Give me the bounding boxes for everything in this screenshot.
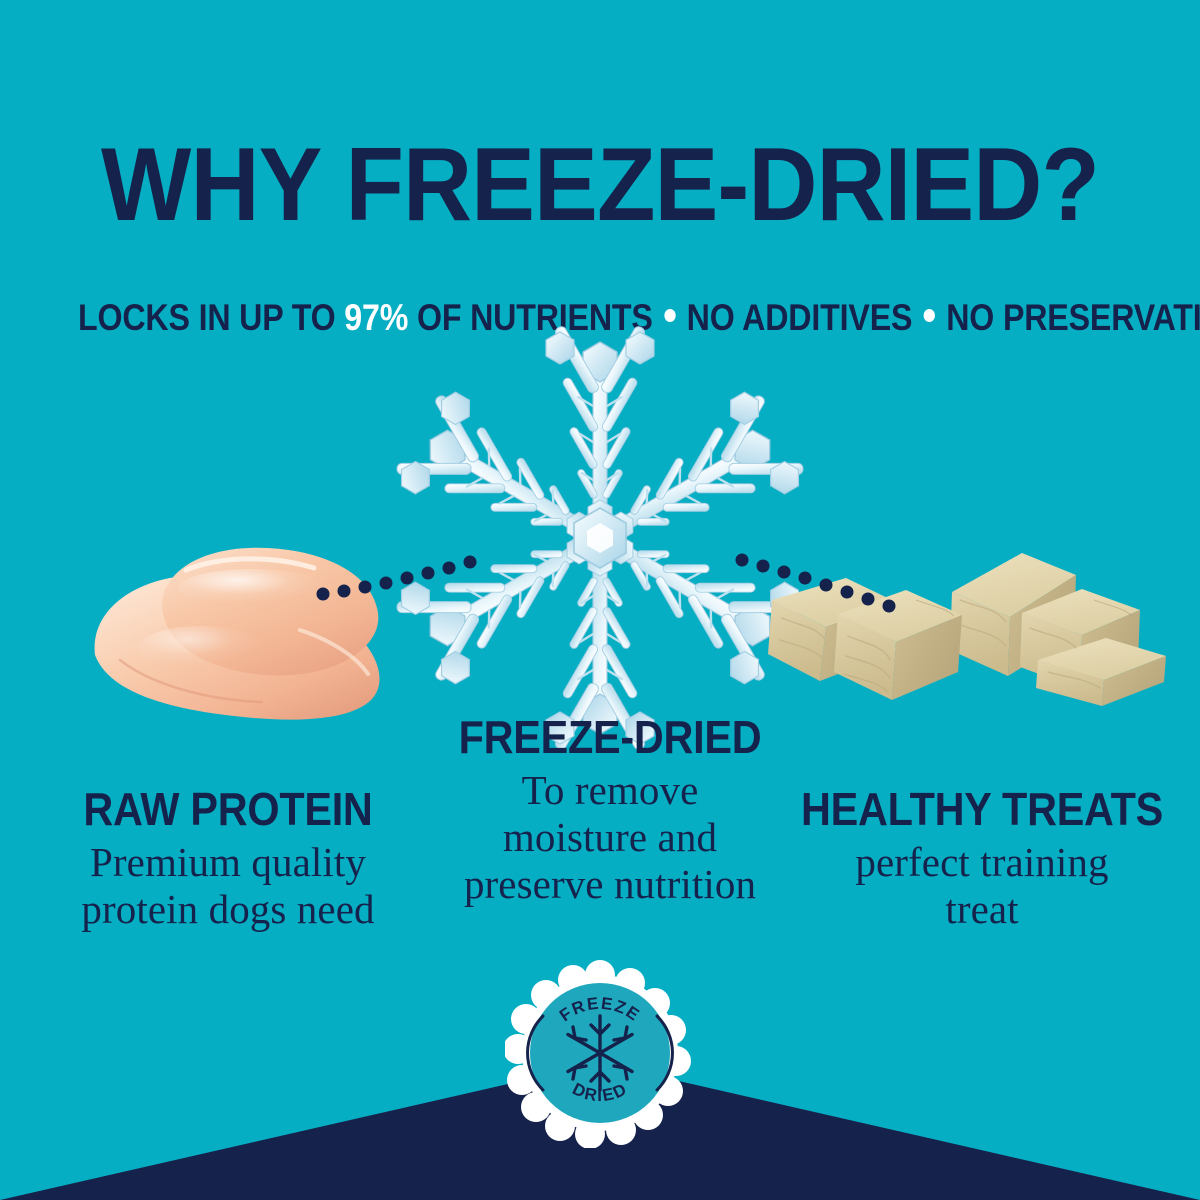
column-raw-protein: RAW PROTEIN Premium quality protein dogs… bbox=[18, 784, 438, 933]
body-line: moisture and bbox=[400, 814, 820, 861]
subtitle-part-1: LOCKS IN UP TO bbox=[78, 297, 344, 338]
column-healthy-treats: HEALTHY TREATS perfect training treat bbox=[772, 784, 1192, 933]
freeze-dried-treats-image bbox=[768, 553, 1166, 706]
page-subtitle: LOCKS IN UP TO 97% OF NUTRIENTSNO ADDITI… bbox=[78, 296, 1122, 340]
column-heading-healthy-treats: HEALTHY TREATS bbox=[793, 784, 1171, 834]
column-body-freeze-dried: To remove moisture and preserve nutritio… bbox=[400, 767, 820, 908]
subtitle-part-2: OF NUTRIENTS bbox=[408, 297, 653, 338]
freeze-dried-badge: FREEZE DRIED bbox=[505, 958, 695, 1148]
column-freeze-dried: FREEZE-DRIED To remove moisture and pres… bbox=[400, 712, 820, 908]
column-body-raw-protein: Premium quality protein dogs need bbox=[18, 839, 438, 933]
connector-left-dotted-line bbox=[317, 556, 477, 601]
body-line: preserve nutrition bbox=[400, 861, 820, 908]
subtitle-item-2: NO ADDITIVES bbox=[687, 297, 913, 338]
bullet-separator-icon bbox=[924, 309, 935, 322]
body-line: To remove bbox=[400, 767, 820, 814]
snowflake-photo bbox=[388, 325, 811, 751]
subtitle-highlight-97: 97% bbox=[344, 297, 408, 338]
body-line: protein dogs need bbox=[18, 886, 438, 933]
column-body-healthy-treats: perfect training treat bbox=[772, 839, 1192, 933]
column-heading-freeze-dried: FREEZE-DRIED bbox=[421, 712, 799, 762]
body-line: treat bbox=[772, 886, 1192, 933]
column-heading-raw-protein: RAW PROTEIN bbox=[39, 784, 417, 834]
raw-chicken-image bbox=[95, 548, 380, 720]
subtitle-item-3: NO PRESERVATIVES bbox=[946, 297, 1200, 338]
page-title: WHY FREEZE-DRIED? bbox=[48, 131, 1152, 239]
infographic-canvas: WHY FREEZE-DRIED? LOCKS IN UP TO 97% OF … bbox=[0, 0, 1200, 1200]
body-line: Premium quality bbox=[18, 839, 438, 886]
body-line: perfect training bbox=[772, 839, 1192, 886]
bullet-separator-icon bbox=[664, 309, 675, 322]
connector-right-dotted-line bbox=[736, 554, 896, 613]
